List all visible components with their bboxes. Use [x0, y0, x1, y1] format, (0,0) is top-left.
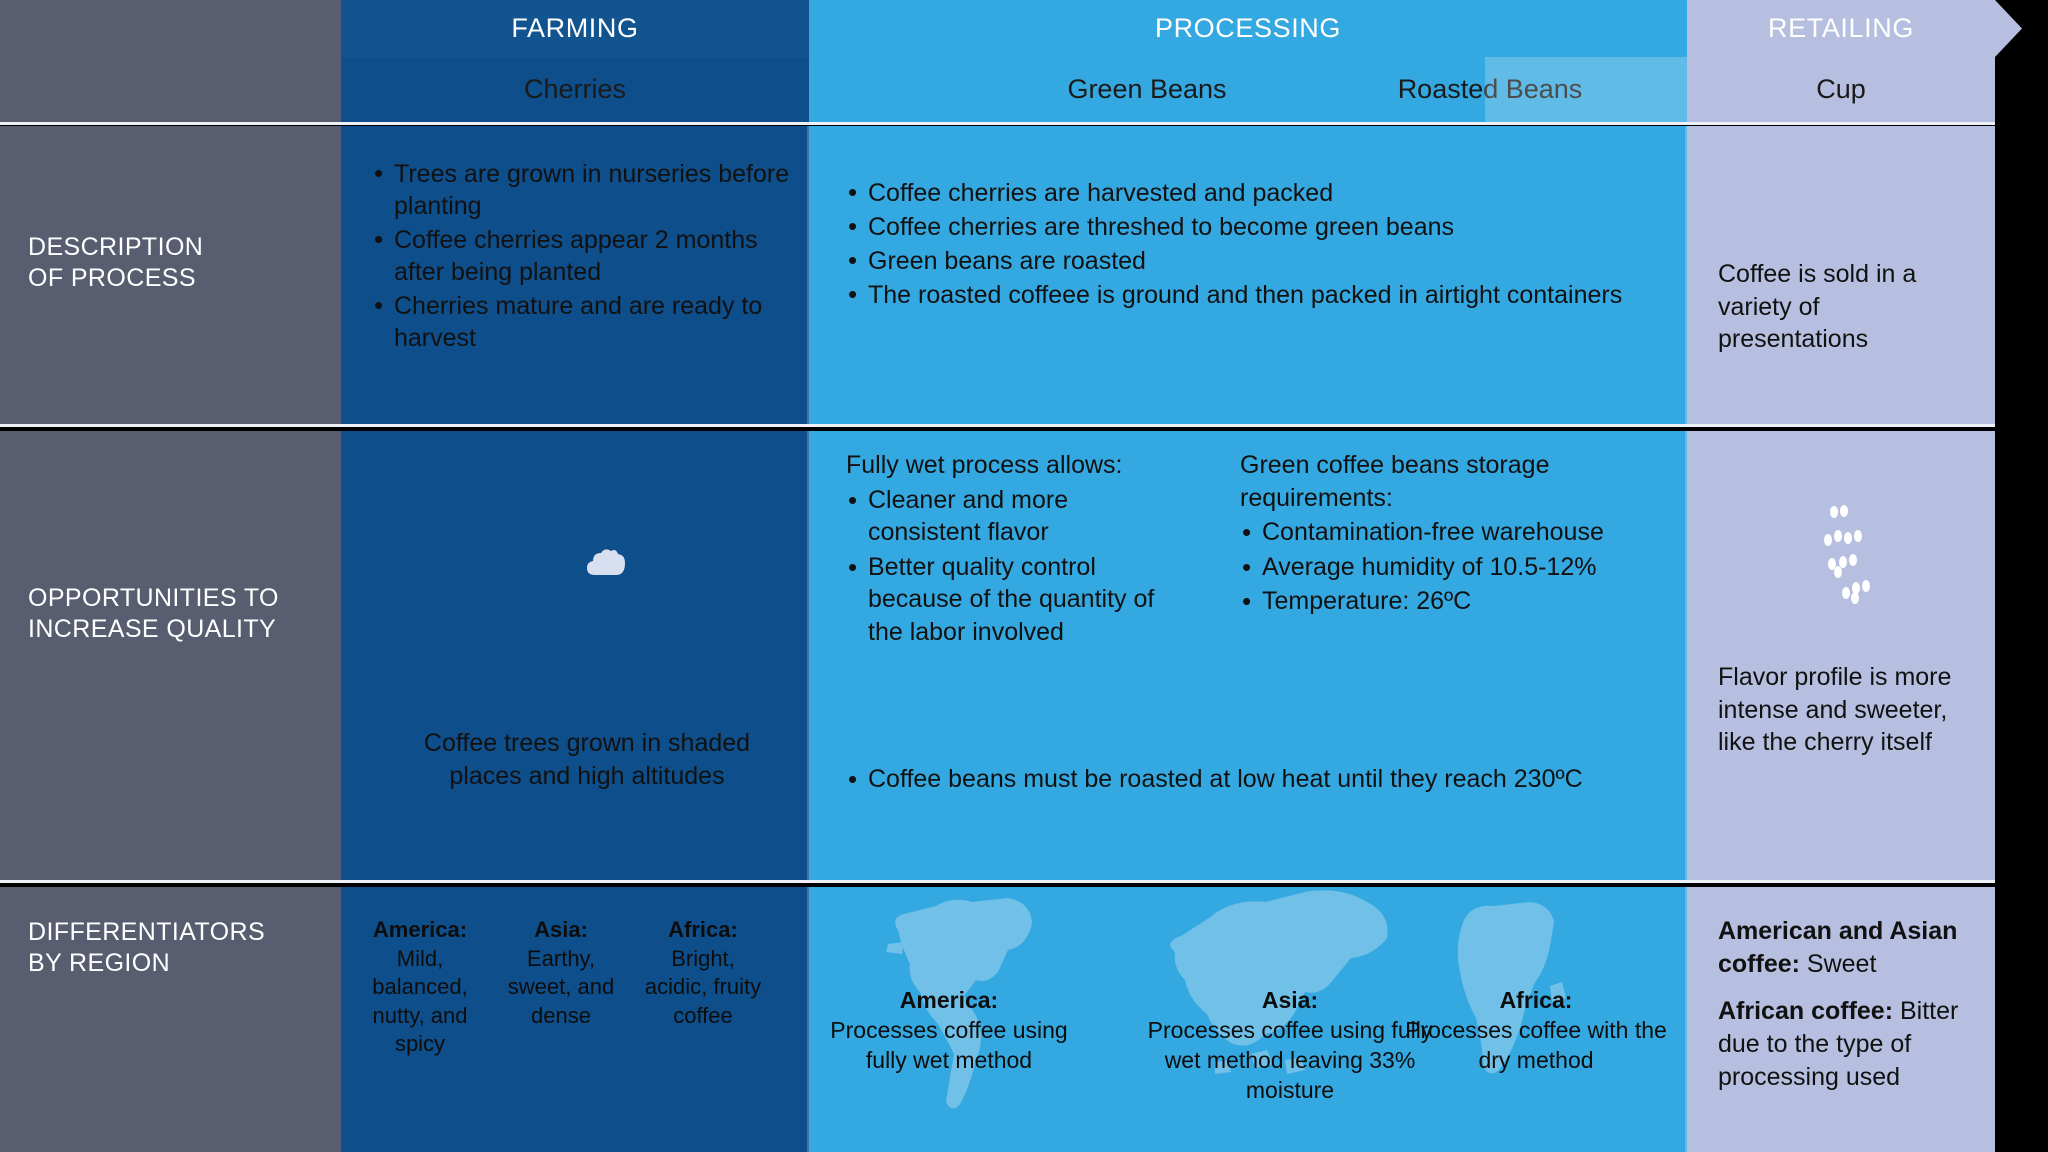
region-name: Africa: [1400, 986, 1672, 1016]
roasted-beans-selection-highlight[interactable] [1485, 57, 1687, 122]
stage-label-farming: FARMING [511, 13, 638, 44]
description-retailing-text: Coffee is sold in a variety of presentat… [1718, 258, 1966, 356]
region-name: Africa: [640, 916, 766, 945]
opportunities-roast-block: Green coffee beans storage requirements:… [1240, 449, 1610, 620]
stage-label-farming-wrap: FARMING [341, 0, 809, 57]
opportunities-green-block: Fully wet process allows: Cleaner and mo… [846, 449, 1186, 650]
region-text: Processes coffee using fully wet method … [1148, 1017, 1433, 1103]
processing-region-asia: Asia: Processes coffee using fully wet m… [1140, 986, 1440, 1106]
list-item: Coffee cherries are harvested and packed [846, 177, 1636, 209]
list-item: Average humidity of 10.5-12% [1240, 551, 1610, 584]
coffee-beans-icon [1810, 500, 1882, 615]
header-product-cup[interactable]: Cup [1687, 57, 1995, 122]
list-item: Coffee cherries are threshed to become g… [846, 211, 1636, 243]
retail-line-2: African coffee: Bitter due to the type o… [1718, 995, 1994, 1094]
product-label-green-beans: Green Beans [1067, 74, 1226, 105]
list-item: Cherries mature and are ready to harvest [372, 290, 792, 354]
product-label-cup: Cup [1816, 74, 1866, 105]
divider-row1-bottom [0, 424, 1995, 427]
list-item: Cleaner and more consistent flavor [846, 484, 1186, 549]
list-item: Trees are grown in nurseries before plan… [372, 158, 792, 222]
farming-region-america: America: Mild, balanced, nutty, and spic… [358, 916, 482, 1059]
processing-region-africa: Africa: Processes coffee with the dry me… [1400, 986, 1672, 1076]
farming-region-africa: Africa: Bright, acidic, fruity coffee [640, 916, 766, 1030]
roast-lead: Green coffee beans storage requirements: [1240, 449, 1610, 514]
cloud-icon [585, 547, 627, 582]
row-opportunities-retailing-cell [1687, 431, 1995, 880]
infographic-board: Cherries Green Beans Roasted Beans Cup F… [0, 0, 1995, 1152]
stage-label-processing-wrap: PROCESSING [809, 0, 1687, 57]
list-item: Green beans are roasted [846, 245, 1636, 277]
description-farming-list: Trees are grown in nurseries before plan… [372, 158, 792, 356]
retail-line-1-rest: Sweet [1800, 950, 1876, 978]
header-product-green-beans[interactable]: Green Beans [809, 57, 1485, 122]
list-item: Contamination-free warehouse [1240, 516, 1610, 549]
region-name: America: [820, 986, 1078, 1016]
region-text: Processes coffee using fully wet method [830, 1017, 1067, 1073]
opportunities-processing-footer: Coffee beans must be roasted at low heat… [846, 763, 1636, 798]
description-processing-list: Coffee cherries are harvested and packed… [846, 177, 1636, 313]
stage-label-processing: PROCESSING [1155, 13, 1341, 44]
row-opportunities-farming-cell [341, 431, 809, 880]
retail-line-2-bold: African coffee: [1718, 997, 1893, 1025]
product-label-cherries: Cherries [524, 74, 626, 105]
header-sidebar-cell [0, 0, 341, 122]
stage-label-retailing-wrap: RETAILING [1687, 0, 1995, 57]
processing-region-america: America: Processes coffee using fully we… [820, 986, 1078, 1076]
list-item: Better quality control because of the qu… [846, 551, 1186, 649]
region-text: Mild, balanced, nutty, and spicy [372, 946, 467, 1057]
divider-header-bottom [0, 122, 1995, 125]
region-text: Processes coffee with the dry method [1405, 1017, 1667, 1073]
region-name: America: [358, 916, 482, 945]
row-opportunities-sidebar [0, 431, 341, 880]
list-item: Coffee beans must be roasted at low heat… [846, 763, 1636, 796]
vsep-opp-2 [1685, 431, 1687, 880]
header-product-cherries[interactable]: Cherries [341, 57, 809, 122]
opportunities-retailing-text: Flavor profile is more intense and sweet… [1718, 661, 1978, 759]
retail-line-1: American and Asian coffee: Sweet [1718, 915, 1994, 981]
list-item: Temperature: 26ºC [1240, 585, 1610, 618]
differentiators-retailing-block: American and Asian coffee: Sweet African… [1718, 915, 1994, 1094]
opportunities-farming-text: Coffee trees grown in shaded places and … [392, 727, 782, 792]
region-text: Bright, acidic, fruity coffee [645, 946, 761, 1028]
green-lead: Fully wet process allows: [846, 449, 1186, 482]
stage-label-retailing: RETAILING [1768, 13, 1914, 44]
region-name: Asia: [502, 916, 620, 945]
farming-region-asia: Asia: Earthy, sweet, and dense [502, 916, 620, 1030]
vsep-opp-1 [807, 431, 809, 880]
list-item: The roasted coffeee is ground and then p… [846, 279, 1636, 311]
list-item: Coffee cherries appear 2 months after be… [372, 224, 792, 288]
divider-row2-bottom [0, 880, 1995, 883]
region-name: Asia: [1140, 986, 1440, 1016]
region-text: Earthy, sweet, and dense [508, 946, 614, 1028]
